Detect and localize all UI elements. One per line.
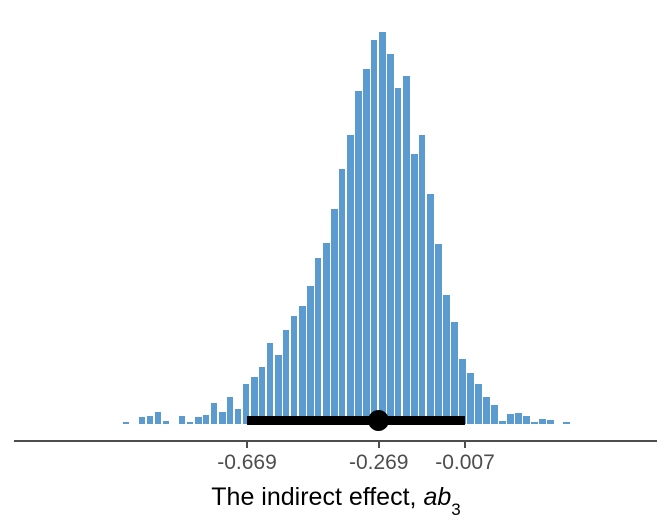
credible-interval-bar: [247, 416, 465, 425]
histogram-figure: -0.669-0.269-0.007 The indirect effect, …: [0, 0, 672, 528]
x-axis-title-text: The indirect effect,: [211, 483, 423, 511]
point-estimate-dot: [368, 410, 389, 431]
x-axis-line: [14, 440, 657, 442]
x-axis-tick: [246, 442, 248, 448]
x-axis: -0.669-0.269-0.007 The indirect effect, …: [0, 430, 672, 528]
plot-panel: [0, 0, 672, 430]
x-axis-tick: [378, 442, 380, 448]
x-axis-title-variable: ab: [423, 483, 451, 511]
x-axis-tick: [464, 442, 466, 448]
x-axis-title-subscript: 3: [451, 500, 460, 519]
x-axis-tick-label: -0.007: [435, 450, 495, 476]
x-axis-tick-label: -0.669: [217, 450, 277, 476]
x-axis-tick-label: -0.269: [349, 450, 409, 476]
x-axis-title: The indirect effect, ab3: [0, 482, 672, 512]
interval-annotation: [0, 0, 672, 430]
